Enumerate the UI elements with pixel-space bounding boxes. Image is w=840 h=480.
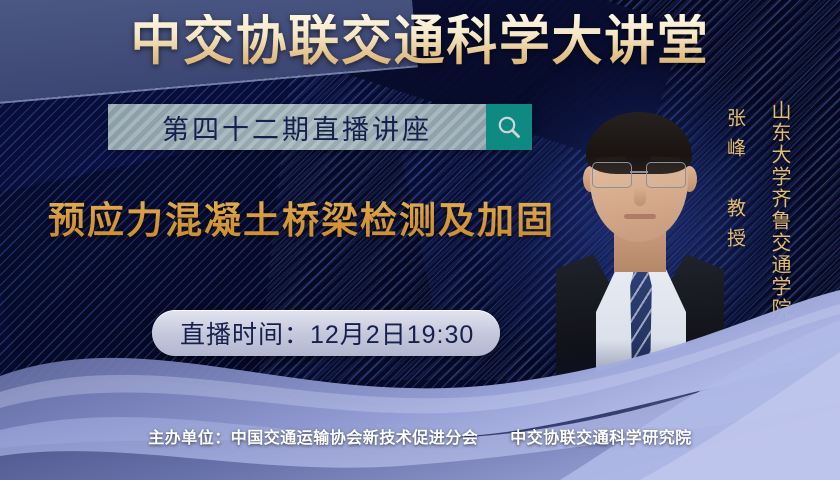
- episode-banner-body: 第四十二期直播讲座: [108, 104, 486, 150]
- lecture-poster: 中交协联交通科学大讲堂 第四十二期直播讲座 预应力混凝土桥梁检测及加固 直播时间…: [0, 0, 840, 480]
- mouth: [624, 214, 656, 219]
- portrait-bottom-fade: [556, 340, 724, 408]
- footer-organizer-secondary: 中交协联交通科学研究院: [510, 430, 692, 447]
- episode-label: 第四十二期直播讲座: [162, 108, 432, 147]
- speaker-affiliation: 山东大学齐鲁交通学院: [765, 100, 794, 320]
- glasses-icon: [592, 162, 686, 188]
- search-icon[interactable]: [486, 104, 532, 150]
- page-title: 中交协联交通科学大讲堂: [25, 14, 815, 68]
- nose: [634, 188, 646, 206]
- footer-organizers: 主办单位：中国交通运输协会新技术促进分会 中交协联交通科学研究院: [0, 424, 840, 448]
- speaker-portrait: [556, 108, 724, 408]
- broadcast-time-pill: 直播时间：12月2日19:30: [152, 310, 500, 356]
- episode-banner: 第四十二期直播讲座: [108, 104, 532, 150]
- lens-left: [592, 162, 632, 188]
- broadcast-time-label: 直播时间：12月2日19:30: [180, 315, 474, 351]
- lecture-topic: 预应力混凝土桥梁检测及加固: [48, 190, 555, 244]
- footer-organizer-primary: 主办单位：中国交通运输协会新技术促进分会: [148, 430, 478, 447]
- lens-right: [646, 162, 686, 188]
- speaker-name-title: 张峰 教授: [721, 108, 748, 258]
